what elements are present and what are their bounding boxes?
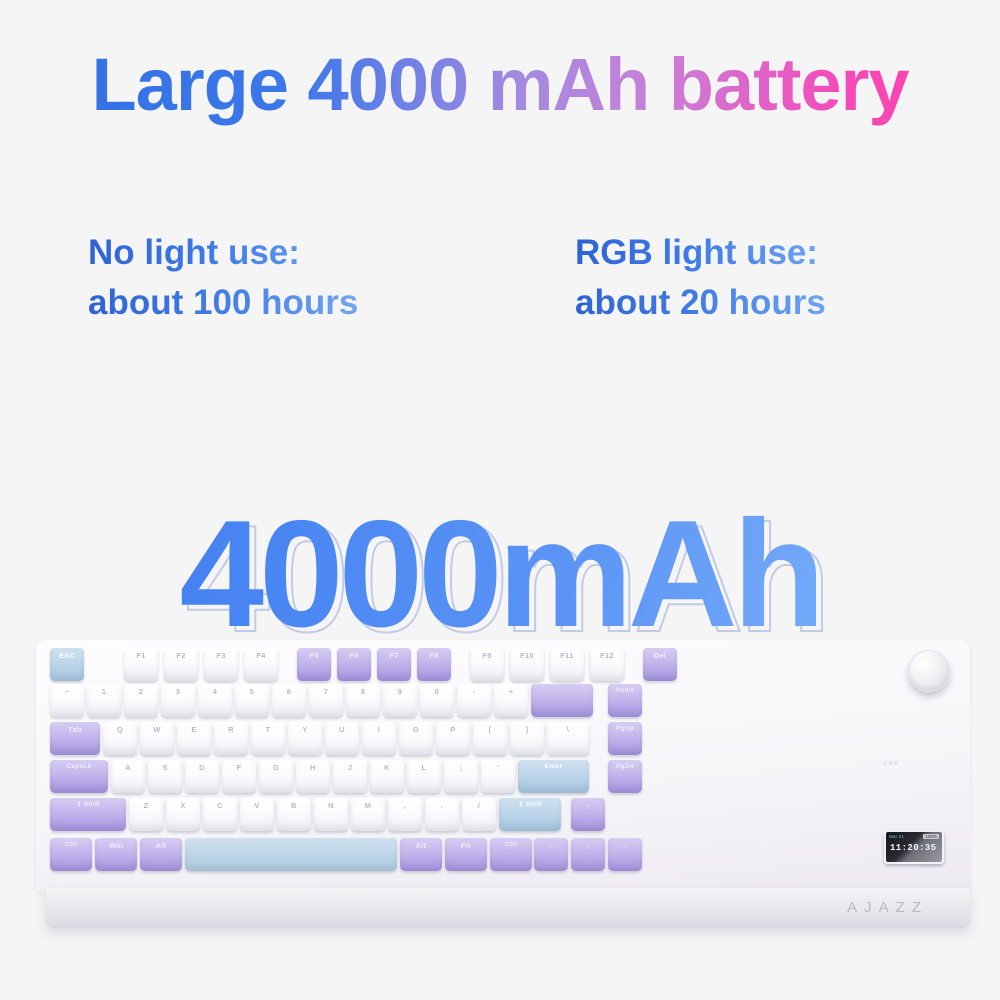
key-legend: Fn [461, 842, 471, 850]
key-b[interactable]: B [277, 798, 311, 831]
key-legend: U [339, 726, 345, 734]
key-sym[interactable]: ' [481, 760, 515, 793]
key-legend: Z [144, 802, 149, 810]
callout-rgb-light-line2: about 20 hours [575, 278, 826, 328]
battery-life-callouts: No light use: about 100 hours RGB light … [0, 228, 1000, 348]
key-legend: E [191, 726, 196, 734]
page-title: Large 4000 mAh battery [0, 42, 1000, 127]
key-legend: N [328, 802, 334, 810]
key-legend: W [153, 726, 160, 734]
key-4[interactable]: 4 [198, 684, 232, 717]
status-indicator-dots: C W B [884, 760, 898, 769]
key-legend: 8 [361, 688, 365, 696]
key-legend: + [509, 688, 514, 696]
key-legend: Ctrl [505, 842, 517, 849]
key-legend: Home [615, 688, 634, 695]
key-legend: ; [460, 764, 463, 772]
callout-no-light-use: No light use: about 100 hours [88, 228, 358, 327]
key-legend: 5 [250, 688, 254, 696]
key-legend: F5 [309, 652, 318, 660]
key-9[interactable]: 9 [383, 684, 417, 717]
key-sym[interactable]: [ [473, 722, 507, 755]
key-g[interactable]: G [259, 760, 293, 793]
key-legend: I [378, 726, 380, 734]
key-legend: → [621, 842, 629, 850]
key-blank[interactable] [531, 684, 593, 717]
key-q[interactable]: Q [103, 722, 137, 755]
key-legend: M [365, 802, 372, 810]
key-f7[interactable]: F7 [377, 648, 411, 681]
volume-knob-icon[interactable] [908, 650, 950, 692]
hero-capacity-text: 4000mAh [0, 494, 1000, 654]
key-sym[interactable]: . [425, 798, 459, 831]
key-legend: F4 [256, 652, 265, 660]
key-f1[interactable]: F1 [124, 648, 158, 681]
key-i[interactable]: I [362, 722, 396, 755]
key-legend: F7 [389, 652, 398, 660]
key-legend: Y [302, 726, 307, 734]
key-legend: [ [489, 726, 492, 734]
key-legend: ⇧ Shift [518, 802, 542, 809]
key-legend: - [473, 688, 476, 696]
key-legend: ↑ [586, 802, 590, 810]
key-v[interactable]: V [240, 798, 274, 831]
key-sym[interactable]: ↓ [571, 838, 605, 871]
key-home[interactable]: Home [608, 684, 642, 717]
key-legend: , [404, 802, 406, 810]
key-x[interactable]: X [166, 798, 200, 831]
key-d[interactable]: D [185, 760, 219, 793]
key-f6[interactable]: F6 [337, 648, 371, 681]
key-legend: K [384, 764, 390, 772]
key-legend: ] [526, 726, 529, 734]
key-f5[interactable]: F5 [297, 648, 331, 681]
key-legend: O [413, 726, 419, 734]
key-legend: Alt [416, 842, 427, 850]
key-capslk[interactable]: CapsLk [50, 760, 108, 793]
key-del[interactable]: Del [643, 648, 677, 681]
key-legend: ~ [65, 688, 70, 696]
key-n[interactable]: N [314, 798, 348, 831]
key-legend: F6 [349, 652, 358, 660]
callout-no-light-line1: No light use: [88, 228, 358, 278]
key-legend: G [273, 764, 279, 772]
key-legend: F1 [136, 652, 145, 660]
key-esc[interactable]: ESC [50, 648, 84, 681]
key-pgup[interactable]: PgUp [608, 722, 642, 755]
key-legend: T [266, 726, 271, 734]
key-legend: Ctrl [65, 842, 77, 849]
key-legend: X [180, 802, 185, 810]
key-legend: J [348, 764, 352, 772]
key-legend: C [217, 802, 223, 810]
key-legend: / [478, 802, 480, 810]
key-legend: Q [117, 726, 123, 734]
key-legend: Del [654, 652, 667, 660]
key-legend: ESC [59, 652, 75, 660]
key-f10[interactable]: F10 [510, 648, 544, 681]
key-legend: A [125, 764, 131, 772]
key-legend: H [310, 764, 316, 772]
key-sym[interactable]: ↑ [571, 798, 605, 831]
key-8[interactable]: 8 [346, 684, 380, 717]
key-legend: 4 [213, 688, 217, 696]
key-m[interactable]: M [351, 798, 385, 831]
key-legend: 2 [139, 688, 143, 696]
key-legend: R [228, 726, 234, 734]
key-0[interactable]: 0 [420, 684, 454, 717]
key-1[interactable]: 1 [87, 684, 121, 717]
key-legend: PgDn [616, 764, 634, 771]
key-r[interactable]: R [214, 722, 248, 755]
key-legend: S [162, 764, 167, 772]
key-legend: 7 [324, 688, 328, 696]
keyboard-top-case: ESCF1F2F3F4F5F6F7F8F9F10F11F12Del ~12345… [36, 640, 970, 892]
key-enter[interactable]: Enter [518, 760, 589, 793]
key-c[interactable]: C [203, 798, 237, 831]
key-legend: P [450, 726, 455, 734]
callout-rgb-light-use: RGB light use: about 20 hours [575, 228, 826, 327]
keyboard-product-image: ESCF1F2F3F4F5F6F7F8F9F10F11F12Del ~12345… [36, 640, 970, 930]
key-legend: F9 [482, 652, 491, 660]
key-f8[interactable]: F8 [417, 648, 451, 681]
key-o[interactable]: O [399, 722, 433, 755]
key-e[interactable]: E [177, 722, 211, 755]
key-f12[interactable]: F12 [590, 648, 624, 681]
key-legend: \ [567, 726, 569, 734]
key-alt[interactable]: Alt [140, 838, 182, 871]
key-legend: V [254, 802, 259, 810]
key-legend: Enter [544, 764, 562, 771]
key-s[interactable]: S [148, 760, 182, 793]
key-3[interactable]: 3 [161, 684, 195, 717]
lcd-time: 11:20:35 [890, 843, 936, 853]
key-legend: Tab [68, 726, 82, 734]
key-f4[interactable]: F4 [244, 648, 278, 681]
key-h[interactable]: H [296, 760, 330, 793]
key-legend: F8 [429, 652, 438, 660]
key-p[interactable]: P [436, 722, 470, 755]
key-win[interactable]: Win [95, 838, 137, 871]
key-alt[interactable]: Alt [400, 838, 442, 871]
key-legend: D [199, 764, 205, 772]
key-shift[interactable]: ⇧ Shift [50, 798, 126, 831]
key-legend: ↓ [586, 842, 590, 850]
key-legend: F10 [520, 652, 534, 660]
key-legend: F2 [176, 652, 185, 660]
callout-no-light-line2: about 100 hours [88, 278, 358, 328]
callout-rgb-light-line1: RGB light use: [575, 228, 826, 278]
key-legend: PgUp [616, 726, 634, 733]
lcd-battery-label: 100% [923, 834, 939, 839]
key-legend: 6 [287, 688, 291, 696]
key-shift[interactable]: ⇧ Shift [499, 798, 561, 831]
key-f3[interactable]: F3 [204, 648, 238, 681]
keyboard-key-plate: ESCF1F2F3F4F5F6F7F8F9F10F11F12Del ~12345… [50, 648, 956, 886]
key-pgdn[interactable]: PgDn [608, 760, 642, 793]
brand-logo: AJAZZ [847, 899, 928, 916]
key-u[interactable]: U [325, 722, 359, 755]
key-legend: 1 [102, 688, 106, 696]
key-sym[interactable]: - [457, 684, 491, 717]
keyboard-front-bezel [46, 888, 970, 928]
hero-capacity: 4000mAh 4000mAh [0, 494, 1000, 654]
key-sym[interactable]: , [388, 798, 422, 831]
key-sym[interactable]: ; [444, 760, 478, 793]
key-sym[interactable]: \ [547, 722, 589, 755]
key-legend: B [291, 802, 297, 810]
key-sym[interactable]: ] [510, 722, 544, 755]
key-a[interactable]: A [111, 760, 145, 793]
key-legend: . [441, 802, 443, 810]
lcd-date-label: Mar 21 [889, 834, 904, 839]
key-legend: CapsLk [66, 764, 91, 771]
key-legend: 3 [176, 688, 180, 696]
key-legend: F12 [600, 652, 614, 660]
key-sym[interactable]: + [494, 684, 528, 717]
key-legend: 0 [435, 688, 439, 696]
key-2[interactable]: 2 [124, 684, 158, 717]
key-sym[interactable]: ~ [50, 684, 84, 717]
key-k[interactable]: K [370, 760, 404, 793]
key-f2[interactable]: F2 [164, 648, 198, 681]
key-l[interactable]: L [407, 760, 441, 793]
key-fn[interactable]: Fn [445, 838, 487, 871]
key-legend: ' [497, 764, 499, 772]
key-f11[interactable]: F11 [550, 648, 584, 681]
key-legend: Alt [156, 842, 167, 850]
key-f[interactable]: F [222, 760, 256, 793]
key-t[interactable]: T [251, 722, 285, 755]
product-marketing-page: Large 4000 mAh battery No light use: abo… [0, 0, 1000, 1000]
key-tab[interactable]: Tab [50, 722, 100, 755]
key-sym[interactable]: / [462, 798, 496, 831]
key-legend: F3 [216, 652, 225, 660]
key-w[interactable]: W [140, 722, 174, 755]
key-sym[interactable]: → [608, 838, 642, 871]
key-legend: ⇧ Shift [76, 802, 100, 809]
key-legend: F [237, 764, 242, 772]
key-5[interactable]: 5 [235, 684, 269, 717]
key-sym[interactable]: ← [534, 838, 568, 871]
key-legend: F11 [560, 652, 573, 660]
keyboard-lcd-display: Mar 21 100% 11:20:35 [884, 830, 944, 864]
key-f9[interactable]: F9 [470, 648, 504, 681]
key-y[interactable]: Y [288, 722, 322, 755]
key-legend: L [422, 764, 427, 772]
key-7[interactable]: 7 [309, 684, 343, 717]
key-6[interactable]: 6 [272, 684, 306, 717]
key-ctrl[interactable]: Ctrl [50, 838, 92, 871]
key-blank[interactable] [185, 838, 397, 871]
key-legend: 9 [398, 688, 402, 696]
key-j[interactable]: J [333, 760, 367, 793]
key-legend: ← [547, 842, 555, 850]
key-z[interactable]: Z [129, 798, 163, 831]
key-legend: Win [109, 842, 124, 850]
key-ctrl[interactable]: Ctrl [490, 838, 532, 871]
